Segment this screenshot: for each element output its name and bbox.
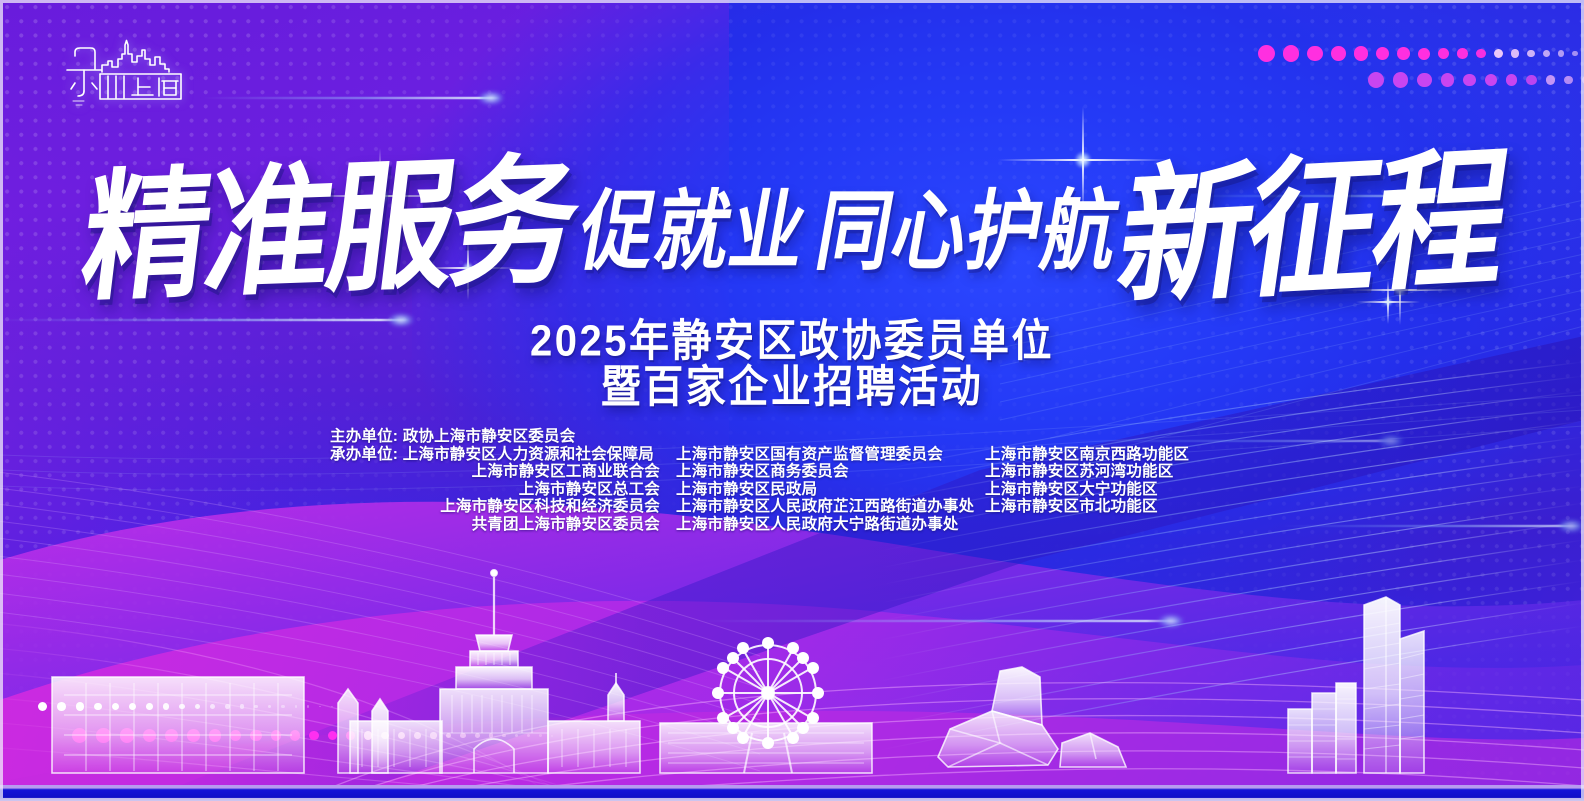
coorg-first-line: 承办单位: 上海市静安区人力资源和社会保障局 <box>330 446 660 464</box>
table-row: 上海市静安区工商业联合会 上海市静安区商务委员会 上海市静安区苏河湾功能区 <box>330 463 1230 481</box>
host-value: 政协上海市静安区委员会 <box>403 428 576 445</box>
bottom-bar <box>0 785 1584 801</box>
organizer-name: 上海市静安区总工会 <box>330 481 660 499</box>
dot-trail-bottom-left-1 <box>38 702 343 711</box>
organizer-name: 上海市静安区商务委员会 <box>660 463 975 481</box>
organizer-name: 上海市静安区人民政府大宁路街道办事处 <box>660 516 975 534</box>
dot-trail-top-right-2 <box>1368 72 1584 88</box>
organizer-name: 共青团上海市静安区委员会 <box>330 516 660 534</box>
organizer-name: 上海市静安区科技和经济委员会 <box>330 498 660 516</box>
organizer-name: 上海市静安区人力资源和社会保障局 <box>403 446 654 463</box>
organizers-block: 主办单位: 政协上海市静安区委员会 承办单位: 上海市静安区人力资源和社会保障局… <box>330 428 1230 534</box>
host-label: 主办单位: <box>330 428 398 446</box>
organizer-name: 上海市静安区工商业联合会 <box>330 463 660 481</box>
table-row: 承办单位: 上海市静安区人力资源和社会保障局 上海市静安区国有资产监督管理委员会… <box>330 446 1230 464</box>
host-spacer-3 <box>975 428 1225 446</box>
organizer-name <box>975 516 1225 534</box>
organizer-name: 上海市静安区苏河湾功能区 <box>975 463 1225 481</box>
table-row: 上海市静安区科技和经济委员会 上海市静安区人民政府芷江西路街道办事处 上海市静安… <box>330 498 1230 516</box>
light-streak <box>0 319 410 321</box>
organizer-name: 上海市静安区大宁功能区 <box>975 481 1225 499</box>
event-poster: 精准服务 促就业 同心护航 新征程 2025年静安区政协委员单位 暨百家企业招聘… <box>0 0 1584 801</box>
table-row: 共青团上海市静安区委员会 上海市静安区人民政府大宁路街道办事处 <box>330 516 1230 534</box>
coorg-label: 承办单位: <box>330 446 398 464</box>
table-row: 上海市静安区总工会 上海市静安区民政局 上海市静安区大宁功能区 <box>330 481 1230 499</box>
organizer-name: 上海市静安区国有资产监督管理委员会 <box>660 446 975 464</box>
organizer-name: 上海市静安区市北功能区 <box>975 498 1225 516</box>
organizer-name: 上海市静安区民政局 <box>660 481 975 499</box>
shanghai-skyline-logo-icon <box>62 38 187 110</box>
light-streak <box>200 97 500 99</box>
dot-trail-bottom-left-2 <box>72 728 562 743</box>
light-streak <box>1280 525 1580 527</box>
organizer-name: 上海市静安区南京西路功能区 <box>975 446 1225 464</box>
organizer-row-host: 主办单位: 政协上海市静安区委员会 <box>330 428 1230 446</box>
light-streak <box>700 620 1180 622</box>
light-streak <box>1180 195 1460 197</box>
dot-trail-top-right-1 <box>1258 45 1584 62</box>
host-line: 主办单位: 政协上海市静安区委员会 <box>330 428 660 446</box>
organizer-name: 上海市静安区人民政府芷江西路街道办事处 <box>660 498 975 516</box>
background-dot-grid-top <box>0 0 1584 801</box>
host-spacer-2 <box>660 428 975 446</box>
